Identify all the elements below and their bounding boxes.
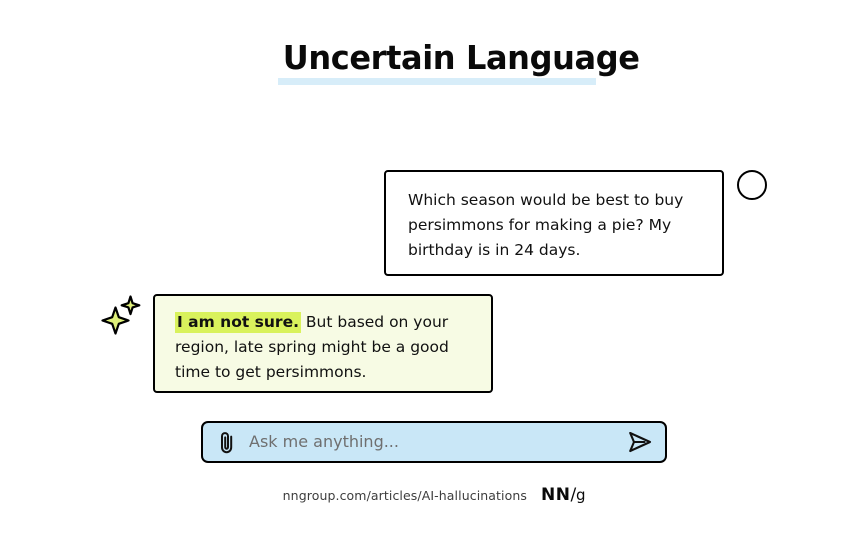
send-arrow-icon[interactable]	[625, 428, 655, 456]
nng-logo-n1: N	[541, 485, 556, 505]
message-composer[interactable]	[201, 421, 667, 463]
paperclip-icon[interactable]	[213, 429, 241, 457]
user-message-row: Which season would be best to buy persim…	[384, 170, 724, 276]
nng-logo-n2: N	[556, 485, 571, 505]
assistant-message-bubble: I am not sure. But based on your region,…	[153, 294, 493, 393]
user-message-text: Which season would be best to buy persim…	[408, 188, 704, 263]
search-input[interactable]	[249, 423, 611, 461]
nng-logo-g: g	[576, 486, 585, 504]
assistant-message-text: I am not sure. But based on your region,…	[175, 310, 475, 385]
nng-logo: NN/g	[541, 485, 585, 505]
footer-url: nngroup.com/articles/AI-hallucinations	[283, 488, 527, 503]
user-avatar-circle-icon	[737, 170, 767, 200]
sparkle-icon	[98, 294, 144, 340]
user-message-bubble: Which season would be best to buy persim…	[384, 170, 724, 276]
uncertainty-highlight: I am not sure.	[175, 312, 301, 333]
footer: nngroup.com/articles/AI-hallucinations N…	[0, 485, 868, 505]
assistant-message-row: I am not sure. But based on your region,…	[98, 294, 498, 396]
